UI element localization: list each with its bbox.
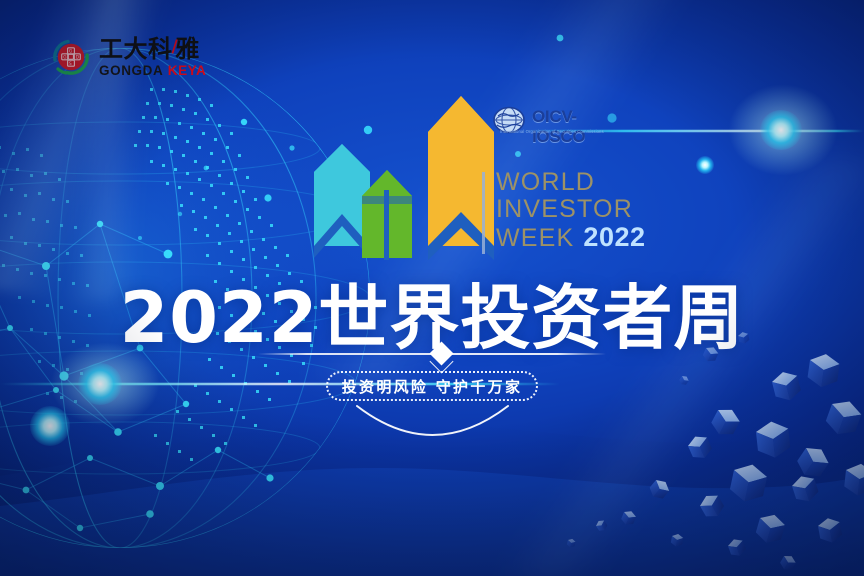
banner-root: G G D S 工 大 科 / 雅 GONGDA KEYA	[0, 0, 864, 576]
vignette-overlay	[0, 0, 864, 576]
